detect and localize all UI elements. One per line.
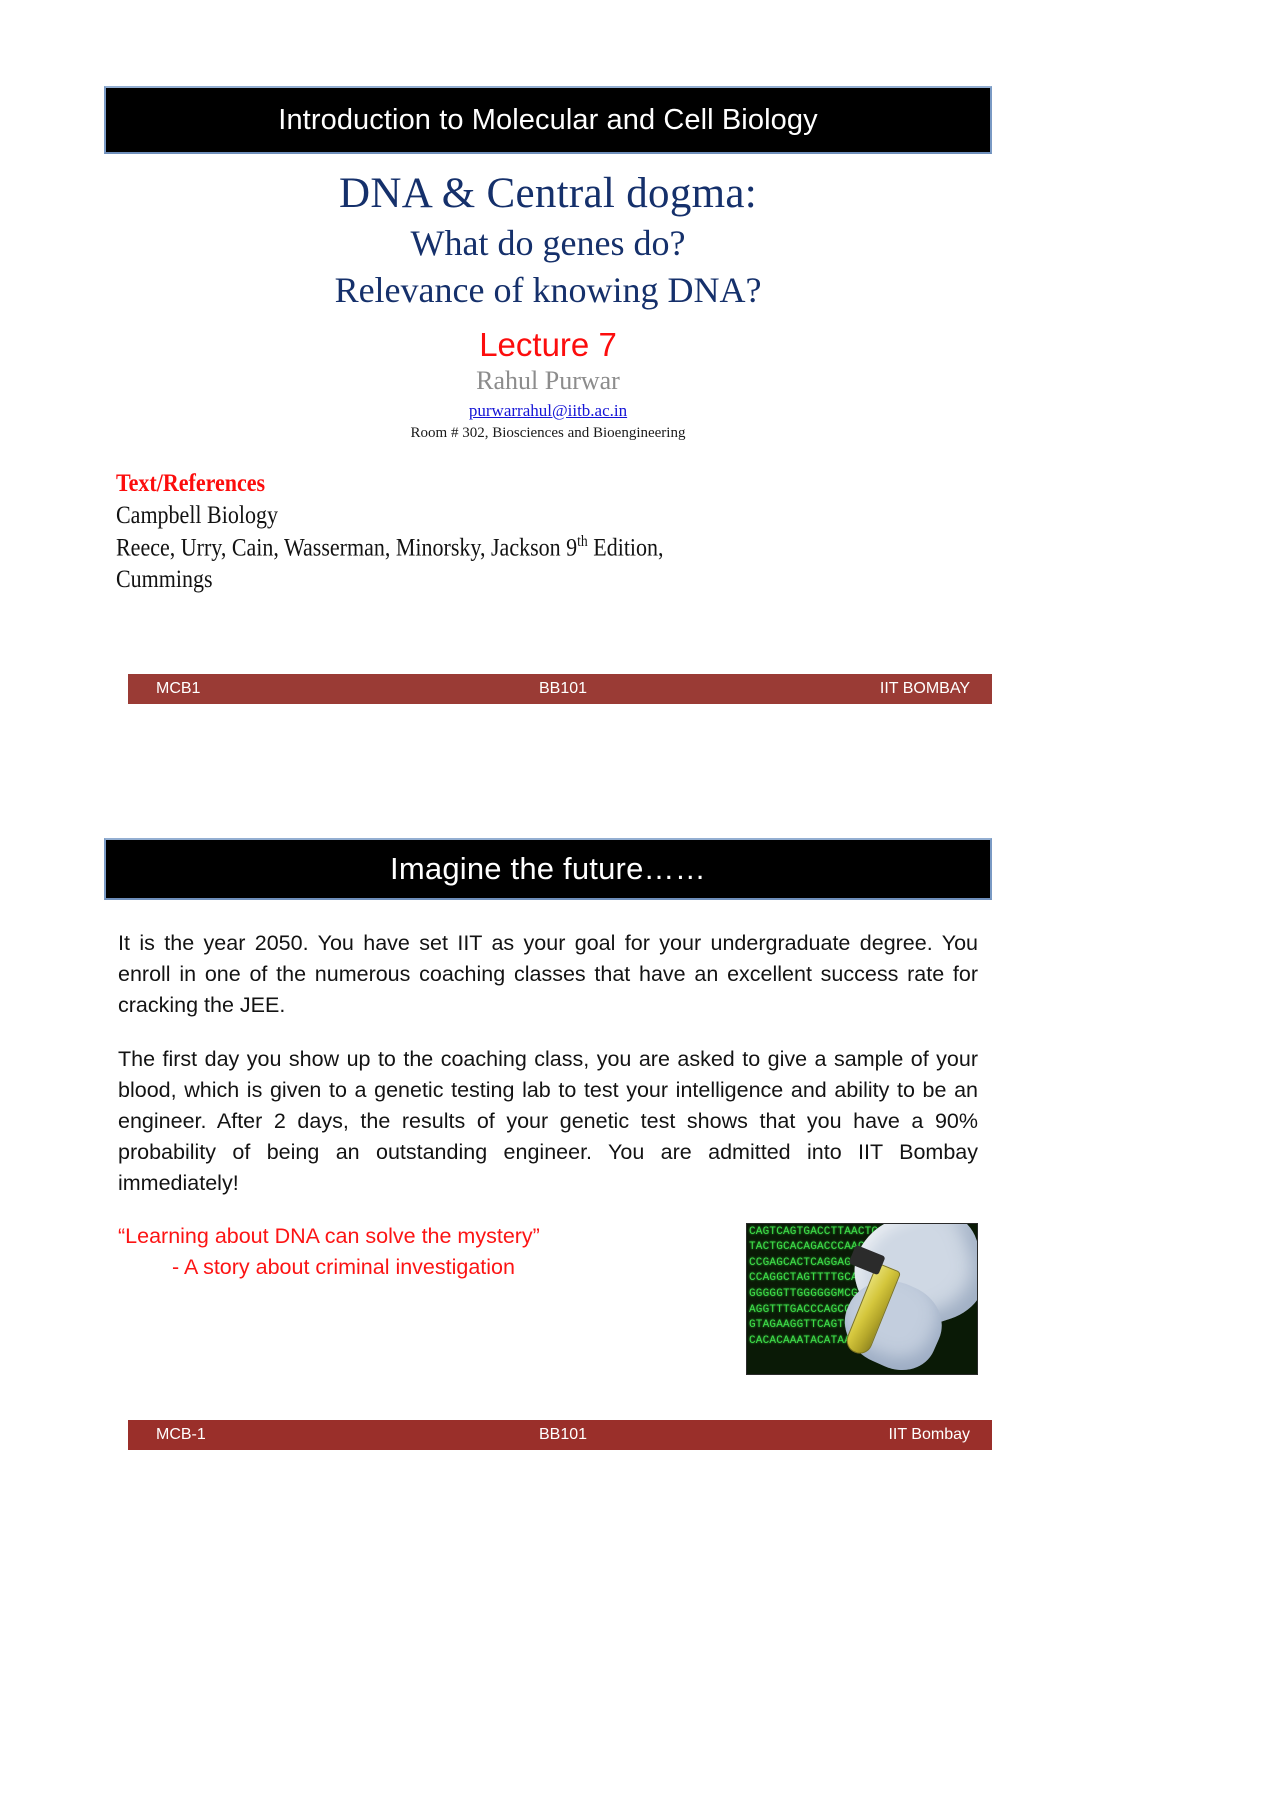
email-line: purwarrahul@iitb.ac.in — [104, 402, 992, 421]
ordinal-suffix: th — [577, 533, 588, 550]
slide2-banner: Imagine the future…… — [104, 838, 992, 900]
paragraph-2: The first day you show up to the coachin… — [118, 1044, 978, 1199]
document-page: Introduction to Molecular and Cell Biolo… — [0, 0, 1280, 1811]
footer-institute: IIT BOMBAY — [699, 680, 992, 698]
slide2-body: It is the year 2050. You have set IIT as… — [104, 928, 992, 1199]
subtitle-line-2: Relevance of knowing DNA? — [104, 267, 992, 313]
dna-sample-image: CAGTCAGTGACCTTAACTGCTCAGAC TACTGCACAGACC… — [746, 1223, 978, 1375]
quote-line-1: “Learning about DNA can solve the myster… — [118, 1221, 658, 1253]
quote-block: “Learning about DNA can solve the myster… — [118, 1221, 658, 1285]
reference-item-1: Campbell Biology — [116, 500, 887, 532]
subtitle-line-1: What do genes do? — [104, 220, 992, 266]
reference-item-2: Reece, Urry, Cain, Wasserman, Minorsky, … — [116, 532, 887, 564]
paragraph-1: It is the year 2050. You have set IIT as… — [118, 928, 978, 1021]
author-name: Rahul Purwar — [104, 367, 992, 396]
references-heading: Text/References — [116, 468, 887, 500]
room-address: Room # 302, Biosciences and Bioengineeri… — [104, 425, 992, 442]
slide1-banner: Introduction to Molecular and Cell Biolo… — [104, 86, 992, 154]
title-block: DNA & Central dogma: What do genes do? R… — [104, 168, 992, 313]
slide-imagine-the-future: Imagine the future…… It is the year 2050… — [104, 838, 992, 1453]
reference-item-3: Cummings — [116, 564, 887, 596]
quote-line-2: - A story about criminal investigation — [118, 1252, 658, 1284]
footer2-institute: IIT Bombay — [699, 1426, 992, 1444]
lecture-number: Lecture 7 — [104, 327, 992, 363]
quote-row: “Learning about DNA can solve the myster… — [104, 1221, 992, 1375]
email-link[interactable]: purwarrahul@iitb.ac.in — [469, 401, 627, 420]
footer-course-code: MCB1 — [128, 680, 427, 698]
slide-title: Introduction to Molecular and Cell Biolo… — [104, 86, 992, 706]
slide2-heading: Imagine the future…… — [390, 851, 706, 887]
references-block: Text/References Campbell Biology Reece, … — [116, 468, 992, 596]
page-title: DNA & Central dogma: — [104, 168, 992, 220]
slide2-footer: MCB-1 BB101 IIT Bombay — [128, 1420, 992, 1450]
reference-item-2-post: Edition, — [588, 534, 664, 561]
course-title: Introduction to Molecular and Cell Biolo… — [278, 104, 817, 137]
footer2-course-code: MCB-1 — [128, 1426, 427, 1444]
footer-course-number: BB101 — [427, 680, 698, 698]
slide1-footer: MCB1 BB101 IIT BOMBAY — [128, 674, 992, 704]
reference-item-2-pre: Reece, Urry, Cain, Wasserman, Minorsky, … — [116, 534, 577, 561]
footer2-course-number: BB101 — [427, 1426, 698, 1444]
